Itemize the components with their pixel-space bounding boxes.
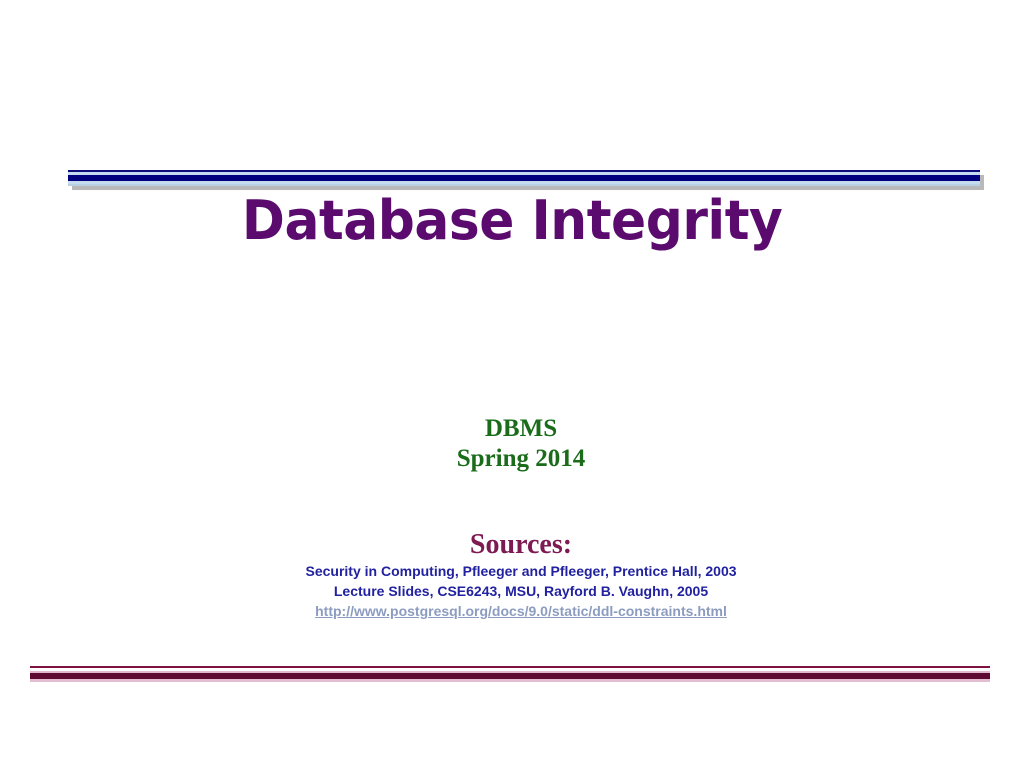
sources-heading: Sources: [18,528,1024,562]
course-term: Spring 2014 [18,444,1024,474]
top-divider-layer-5 [68,184,980,186]
slide-title: Database Integrity [21,190,1004,252]
sources-block: Sources: Security in Computing, Pfleeger… [0,528,1024,622]
course-name: DBMS [18,414,1024,444]
source-link[interactable]: http://www.postgresql.org/docs/9.0/stati… [315,601,727,622]
course-block: DBMS Spring 2014 [0,414,1024,474]
bottom-divider-layer-5 [30,679,990,682]
source-entry: Security in Computing, Pfleeger and Pfle… [18,562,1024,582]
title-slide: Database Integrity DBMS Spring 2014 Sour… [0,0,1024,768]
top-divider-bar [68,170,980,190]
source-entry: Lecture Slides, CSE6243, MSU, Rayford B.… [18,582,1024,602]
top-divider-layers [68,170,980,186]
bottom-divider-bar [30,666,990,682]
